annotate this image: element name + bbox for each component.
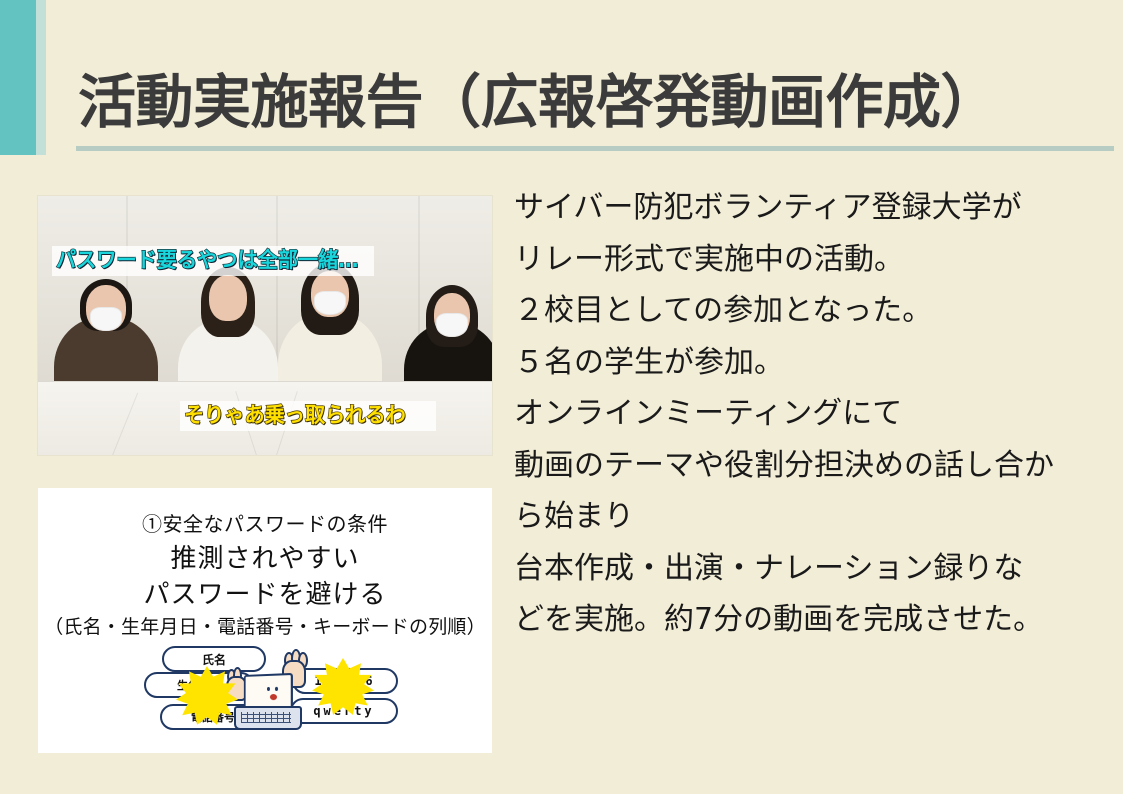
slide-card-note: （氏名・生年月日・電話番号・キーボードの列順） [38,612,492,639]
password-illustration: 氏名 生年月日 電話番号 123456 qwerty [134,646,402,744]
title-divider [76,146,1114,151]
pill-fullname: 氏名 [162,646,266,672]
face-eye-left [267,687,270,691]
body-text-line: サイバー防犯ボランティア登録大学が [514,182,1114,234]
body-text-line: リレー形式で実施中の活動。 [514,234,1114,286]
face-eye-right [275,687,278,691]
person-head [209,275,247,321]
person-face-mask [314,291,346,315]
video-caption-bottom: そりゃあ乗っ取られるわ [184,405,406,426]
laptop-icon [234,674,298,728]
slide-card-line-2: 推測されやすい [38,538,492,575]
person-face-mask [90,307,122,331]
accent-bar-teal [0,0,36,155]
body-text-line: ら始まり [514,491,1114,543]
body-text-line: どを実施。約7分の動画を完成させた。 [514,594,1114,646]
face-mouth [270,694,277,700]
body-text-line: ２校目としての参加となった。 [514,285,1114,337]
page-title: 活動実施報告（広報啓発動画作成） [78,71,1078,134]
slide-card-heading: ①安全なパスワードの条件 [38,508,492,537]
person-face-mask [436,313,468,337]
password-slide-image: ①安全なパスワードの条件 推測されやすい パスワードを避ける （氏名・生年月日・… [38,488,492,753]
video-caption-top: パスワード要るやつは全部一緒… [56,250,358,271]
body-text-line: 台本作成・出演・ナレーション録りな [514,543,1114,595]
slide-card-line-3: パスワードを避ける [38,574,492,611]
body-text-line: オンラインミーティングにて [514,388,1114,440]
media-column: パスワード要るやつは全部一緒… そりゃあ乗っ取られるわ ①安全なパスワードの条件… [38,196,492,753]
body-text-line: ５名の学生が参加。 [514,337,1114,389]
laptop-keyboard [241,712,291,723]
body-text-line: 動画のテーマや役割分担決めの話し合か [514,440,1114,492]
body-text-block: サイバー防犯ボランティア登録大学が リレー形式で実施中の活動。 ２校目としての参… [514,182,1114,646]
video-still-image: パスワード要るやつは全部一緒… そりゃあ乗っ取られるわ [38,196,492,455]
presentation-slide: 活動実施報告（広報啓発動画作成） [0,0,1123,794]
laptop-face [264,684,282,703]
accent-bar-soft [36,0,46,155]
laptop-base [234,706,302,730]
